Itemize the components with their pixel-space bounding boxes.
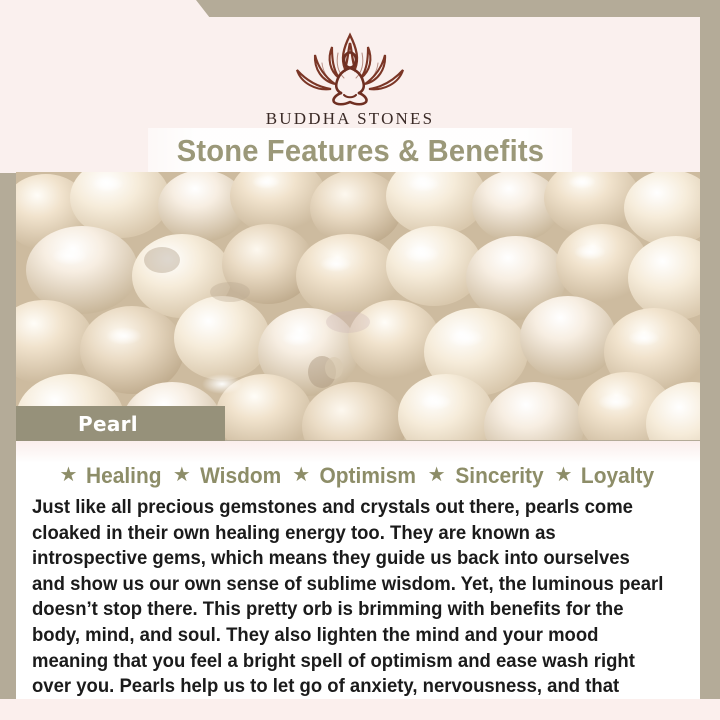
description-text: Just like all precious gemstones and cry… — [32, 495, 667, 720]
panel-top-gradient — [16, 441, 700, 463]
benefit-label: Loyalty — [581, 463, 654, 489]
star-icon: ★ — [60, 465, 78, 485]
page-title-band: Stone Features & Benefits — [148, 128, 572, 174]
brand-name: BUDDHA STONES — [266, 109, 435, 129]
star-icon: ★ — [292, 465, 310, 485]
star-icon: ★ — [555, 465, 573, 485]
description-panel: ★ Healing ★ Wisdom ★ Optimism ★ Sincerit… — [16, 441, 700, 699]
stone-name-label: Pearl — [78, 412, 138, 436]
brand-logo: BUDDHA STONES — [0, 29, 700, 129]
benefit-label: Optimism — [320, 463, 416, 489]
benefit-label: Wisdom — [200, 463, 281, 489]
benefit-label: Healing — [86, 463, 161, 489]
star-icon: ★ — [428, 465, 446, 485]
benefits-list: ★ Healing ★ Wisdom ★ Optimism ★ Sincerit… — [16, 463, 700, 489]
benefit-item: ★ Loyalty — [555, 463, 657, 489]
benefit-item: ★ Optimism — [292, 463, 418, 489]
benefit-label: Sincerity — [455, 463, 543, 489]
benefit-item: ★ Healing — [60, 463, 164, 489]
page-title: Stone Features & Benefits — [176, 133, 543, 169]
frame-corner-notch — [0, 0, 210, 18]
star-icon: ★ — [173, 465, 191, 485]
lotus-meditation-figure-icon — [275, 29, 425, 107]
stone-features-infographic: BUDDHA STONES Stone Features & Benefits — [0, 0, 720, 720]
benefit-item: ★ Sincerity — [428, 463, 546, 489]
benefit-item: ★ Wisdom — [173, 463, 283, 489]
stone-name-banner: Pearl — [16, 406, 225, 441]
pearls-image — [16, 172, 700, 440]
bottom-accent-strip — [0, 699, 720, 720]
stone-photo — [16, 172, 700, 440]
